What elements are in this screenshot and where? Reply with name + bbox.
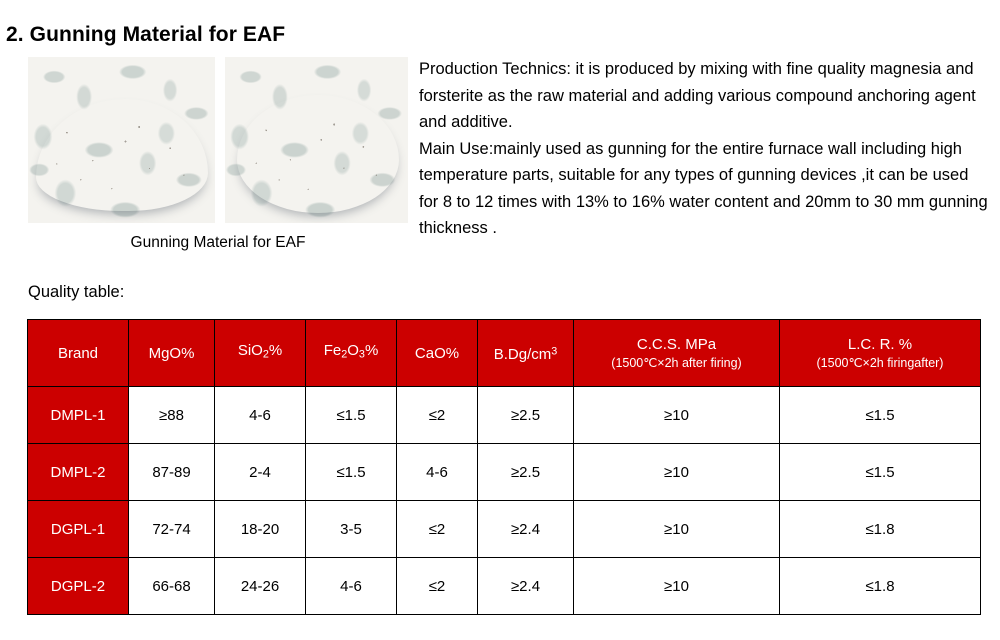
table-header-title-mgo: MgO% [149,345,195,362]
table-header-title-bd: B.Dg/cm3 [494,346,558,363]
table-cell-fe2o3: 3-5 [306,501,397,558]
table-cell-ccs: ≥10 [574,387,780,444]
table-header-subtitle-ccs: (1500℃×2h after firing) [574,355,779,372]
table-header-bd: B.Dg/cm3 [478,320,574,387]
product-photo-right [225,57,408,223]
table-cell-fe2o3: ≤1.5 [306,444,397,501]
table-cell-lcr: ≤1.8 [780,558,981,615]
table-row: DGPL-266-6824-264-6≤2≥2.4≥10≤1.8 [28,558,981,615]
table-header-subtitle-lcr: (1500℃×2h firingafter) [780,355,980,372]
table-cell-sio2: 18-20 [215,501,306,558]
table-cell-cao: ≤2 [397,387,478,444]
table-header-lcr: L.C. R. %(1500℃×2h firingafter) [780,320,981,387]
description-block: Production Technics: it is produced by m… [419,56,989,242]
photo-caption: Gunning Material for EAF [28,234,408,252]
table-cell-lcr: ≤1.5 [780,387,981,444]
product-photo-block: Gunning Material for EAF [28,57,408,252]
quality-table: BrandMgO%SiO2%Fe2O3%CaO%B.Dg/cm3C.C.S. M… [27,319,981,615]
table-cell-sio2: 24-26 [215,558,306,615]
photo-row [28,57,408,223]
table-cell-bd: ≥2.5 [478,444,574,501]
table-row: DMPL-1≥884-6≤1.5≤2≥2.5≥10≤1.5 [28,387,981,444]
table-cell-bd: ≥2.5 [478,387,574,444]
table-cell-lcr: ≤1.8 [780,501,981,558]
table-cell-fe2o3: ≤1.5 [306,387,397,444]
description-paragraph-production-technics: Production Technics: it is produced by m… [419,56,989,136]
table-cell-bd: ≥2.4 [478,501,574,558]
table-header-ccs: C.C.S. MPa(1500℃×2h after firing) [574,320,780,387]
table-cell-cao: ≤2 [397,501,478,558]
table-header-title-cao: CaO% [415,345,459,362]
table-header-title-ccs: C.C.S. MPa [637,336,716,353]
table-cell-mgo: 87-89 [129,444,215,501]
table-row: DMPL-287-892-4≤1.54-6≥2.5≥10≤1.5 [28,444,981,501]
table-cell-mgo: ≥88 [129,387,215,444]
table-cell-brand: DMPL-1 [28,387,129,444]
table-cell-cao: ≤2 [397,558,478,615]
table-cell-mgo: 66-68 [129,558,215,615]
table-cell-bd: ≥2.4 [478,558,574,615]
table-header-brand: Brand [28,320,129,387]
table-header-title-fe2o3: Fe2O3% [324,342,379,359]
table-cell-ccs: ≥10 [574,558,780,615]
table-cell-lcr: ≤1.5 [780,444,981,501]
table-cell-mgo: 72-74 [129,501,215,558]
table-header-fe2o3: Fe2O3% [306,320,397,387]
table-header-sio2: SiO2% [215,320,306,387]
table-cell-brand: DMPL-2 [28,444,129,501]
table-header-title-sio2: SiO2% [238,342,282,359]
table-cell-cao: 4-6 [397,444,478,501]
table-header-mgo: MgO% [129,320,215,387]
powder-pile-shape [237,95,399,213]
quality-table-head: BrandMgO%SiO2%Fe2O3%CaO%B.Dg/cm3C.C.S. M… [28,320,981,387]
table-cell-sio2: 2-4 [215,444,306,501]
table-header-row: BrandMgO%SiO2%Fe2O3%CaO%B.Dg/cm3C.C.S. M… [28,320,981,387]
quality-table-body: DMPL-1≥884-6≤1.5≤2≥2.5≥10≤1.5DMPL-287-89… [28,387,981,615]
table-header-cao: CaO% [397,320,478,387]
description-paragraph-main-use: Main Use:mainly used as gunning for the … [419,136,989,242]
table-cell-sio2: 4-6 [215,387,306,444]
product-photo-left [28,57,215,223]
table-header-title-lcr: L.C. R. % [848,336,912,353]
table-cell-ccs: ≥10 [574,501,780,558]
table-row: DGPL-172-7418-203-5≤2≥2.4≥10≤1.8 [28,501,981,558]
page-title: 2. Gunning Material for EAF [6,23,285,47]
quality-table-label: Quality table: [28,283,124,302]
table-cell-brand: DGPL-2 [28,558,129,615]
table-cell-brand: DGPL-1 [28,501,129,558]
table-cell-fe2o3: 4-6 [306,558,397,615]
table-header-title-brand: Brand [58,345,98,362]
table-cell-ccs: ≥10 [574,444,780,501]
